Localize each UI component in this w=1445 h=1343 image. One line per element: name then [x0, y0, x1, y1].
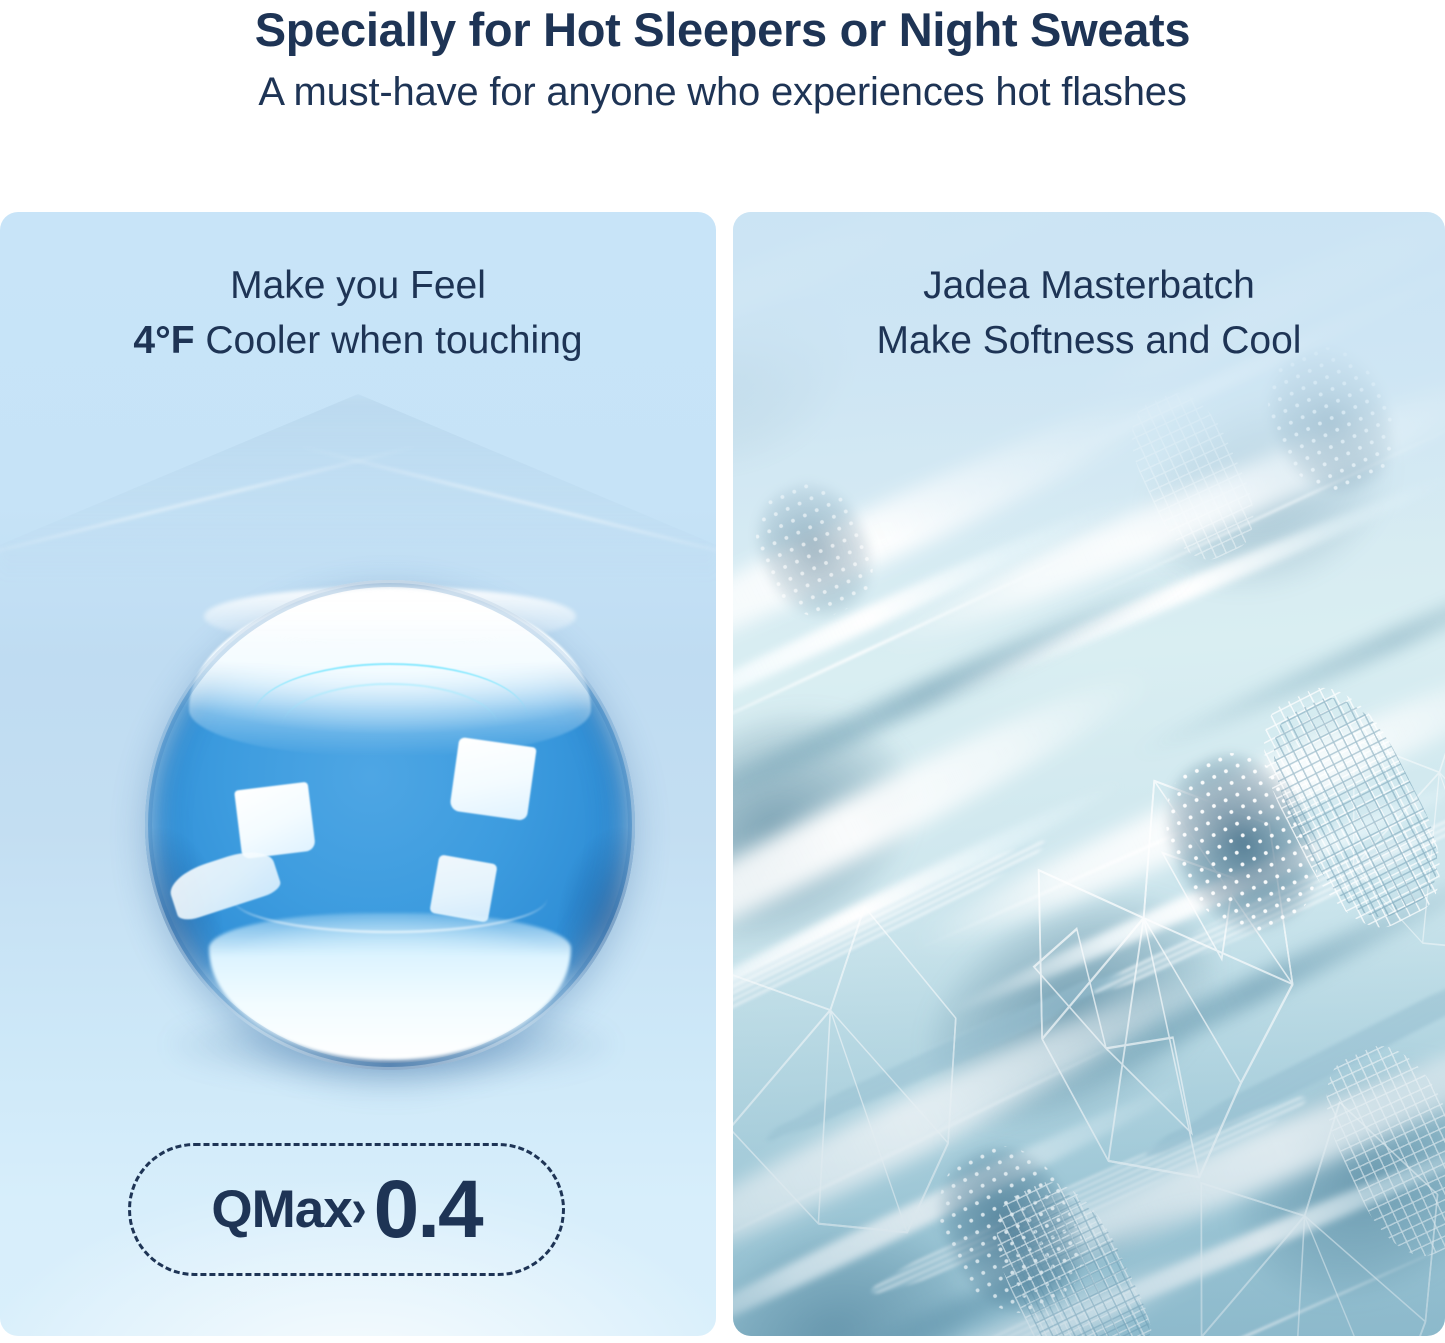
fabric-bottom-tint	[733, 916, 1445, 1336]
left-panel-caption: Make you Feel 4°F Cooler when touching	[0, 260, 716, 367]
cooling-touch-panel: Make you Feel 4°F Cooler when touching Q…	[0, 212, 716, 1336]
right-caption-line-2: Make Softness and Cool	[733, 315, 1445, 366]
right-caption-line-1: Jadea Masterbatch	[733, 260, 1445, 311]
page-title: Specially for Hot Sleepers or Night Swea…	[0, 2, 1445, 57]
qmax-value: 0.4	[374, 1163, 482, 1257]
masterbatch-fiber-panel: Jadea Masterbatch Make Softness and Cool	[733, 212, 1445, 1336]
feature-panels: Make you Feel 4°F Cooler when touching Q…	[0, 212, 1445, 1336]
glass-sphere-image	[145, 580, 635, 1070]
sphere-body	[145, 580, 635, 1070]
qmax-badge: QMax › 0.4	[128, 1143, 565, 1276]
left-caption-line-2-rest: Cooler when touching	[195, 319, 583, 362]
qmax-label: QMax	[211, 1179, 351, 1240]
fiber-macro-image	[733, 212, 1445, 1336]
left-caption-line-2: 4°F Cooler when touching	[0, 315, 716, 366]
page-subtitle: A must-have for anyone who experiences h…	[0, 65, 1445, 119]
temperature-value: 4°F	[133, 319, 194, 362]
greater-than-icon: ›	[351, 1181, 366, 1235]
sphere-glass-rim	[145, 580, 635, 1070]
right-panel-caption: Jadea Masterbatch Make Softness and Cool	[733, 260, 1445, 367]
header: Specially for Hot Sleepers or Night Swea…	[0, 0, 1445, 119]
left-caption-line-1: Make you Feel	[0, 260, 716, 311]
